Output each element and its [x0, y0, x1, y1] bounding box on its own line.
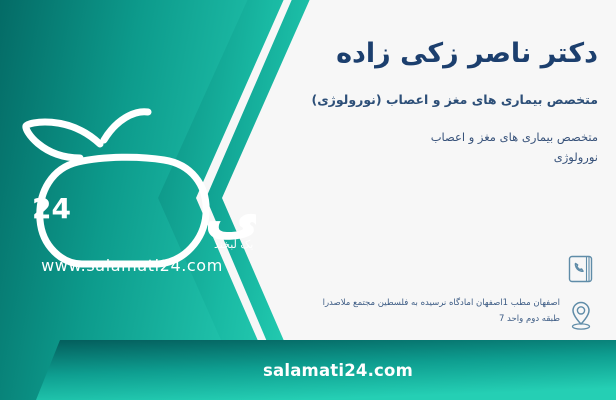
- specialty-line: نورولوژی: [198, 148, 598, 168]
- logo-wordmark: سلامتی: [204, 174, 256, 247]
- footer-url[interactable]: salamati24.com: [0, 340, 616, 400]
- specialty-line: متخصص بیماری های مغز و اعصاب: [198, 128, 598, 148]
- logo-site-text: www.salamati24.com: [41, 256, 223, 275]
- map-pin-icon[interactable]: [564, 298, 598, 332]
- clinic-address: اصفهان مطب 1اصفهان امادگاه نرسیده به فلس…: [160, 296, 560, 327]
- doctor-specialty-details: متخصص بیماری های مغز و اعصاب نورولوژی: [198, 128, 598, 167]
- doctor-name: دکتر ناصر زکی زاده: [168, 38, 598, 69]
- logo-24: 24: [32, 192, 71, 225]
- phonebook-icon[interactable]: [564, 252, 598, 286]
- doctor-specialty-headline: متخصص بیماری های مغز و اعصاب (نورولوژی): [168, 92, 598, 108]
- doctor-profile-card: سلامتی 24 به راحتی یک لبخند www.salamati…: [0, 0, 616, 400]
- salamati24-logo: سلامتی 24 به راحتی یک لبخند www.salamati…: [8, 96, 256, 278]
- contact-icons: [564, 252, 604, 344]
- address-line: طبقه دوم واحد 7: [160, 312, 560, 328]
- logo-tagline-text: به راحتی یک لبخند: [214, 238, 256, 251]
- logo-mark: سلامتی 24 به راحتی یک لبخند www.salamati…: [8, 96, 256, 278]
- address-line: اصفهان مطب 1اصفهان امادگاه نرسیده به فلس…: [160, 296, 560, 312]
